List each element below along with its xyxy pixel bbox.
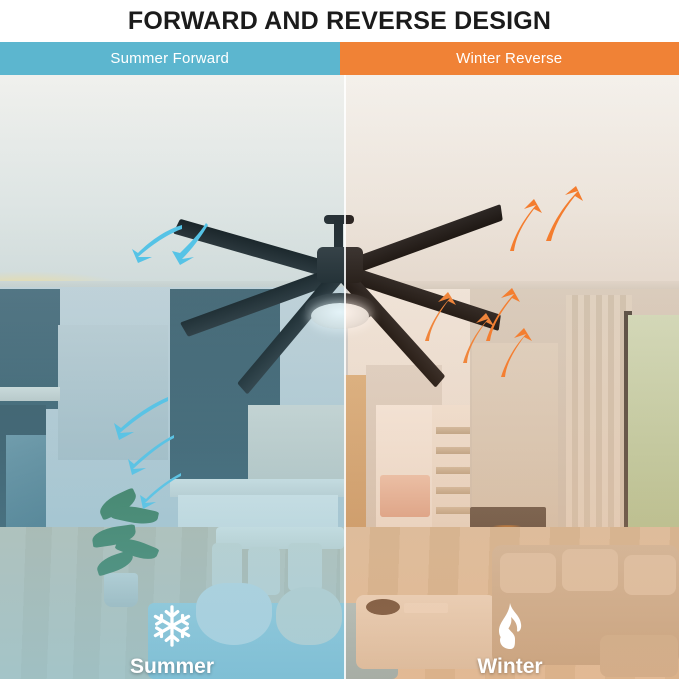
airflow-arrow-summer — [168, 221, 214, 267]
tab-summer-forward: Summer Forward — [0, 42, 340, 75]
snowflake-icon — [2, 598, 342, 654]
sofa-cushion — [562, 549, 618, 591]
caption-winter-title: Winter — [340, 654, 679, 679]
mode-label-bar: Summer Forward Winter Reverse — [0, 42, 679, 75]
airflow-arrow-winter — [540, 185, 586, 243]
sofa-cushion — [624, 555, 676, 595]
wall-mirror — [6, 435, 46, 535]
airflow-arrow-winter — [418, 291, 458, 343]
product-infographic: FORWARD AND REVERSE DESIGN Summer Forwar… — [0, 0, 679, 679]
fan-led-light — [311, 303, 369, 329]
tab-winter-reverse: Winter Reverse — [340, 42, 679, 75]
caption-summer: Summer Air Circulation Downward — [2, 598, 342, 679]
dining-chair — [288, 543, 322, 591]
tile-wall — [248, 405, 348, 481]
tab-summer-forward-label: Summer Forward — [110, 50, 229, 67]
flame-icon — [340, 598, 679, 654]
airflow-arrow-winter — [494, 327, 534, 379]
airflow-arrow-winter — [500, 197, 544, 253]
sofa-cushion — [500, 553, 556, 593]
bed — [380, 475, 430, 517]
page-title: FORWARD AND REVERSE DESIGN — [128, 7, 551, 36]
wall-shelf — [0, 387, 60, 401]
caption-winter: Winter Air Circulation Upward — [340, 598, 679, 679]
airflow-arrow-winter — [456, 311, 496, 365]
split-divider — [344, 75, 346, 679]
fan-motor-housing — [317, 247, 363, 283]
caption-summer-title: Summer — [2, 654, 342, 679]
fan-blade — [339, 204, 503, 279]
title-bar: FORWARD AND REVERSE DESIGN — [0, 0, 679, 42]
tab-winter-reverse-label: Winter Reverse — [456, 50, 562, 67]
airflow-arrow-summer — [138, 471, 184, 511]
room-photo: Summer Air Circulation Downward Winter A… — [0, 75, 679, 679]
